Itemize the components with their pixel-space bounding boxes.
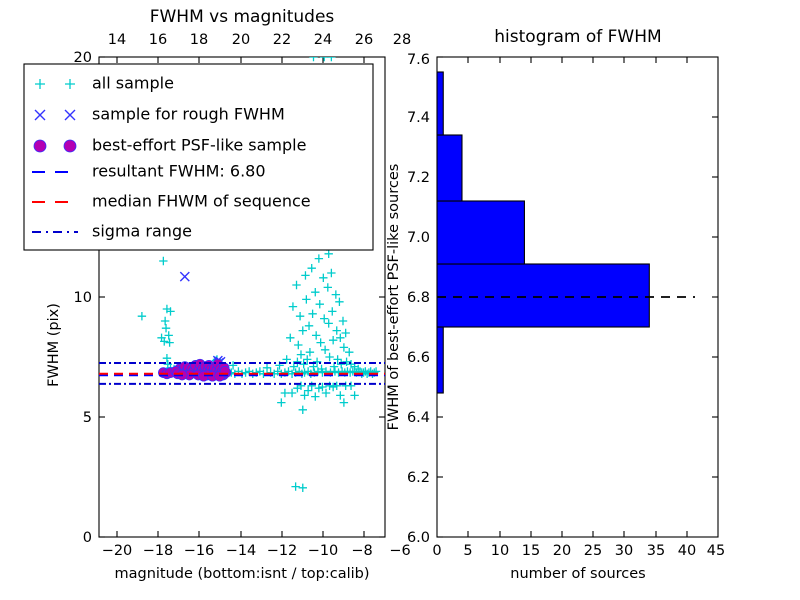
- legend-box: all samplesample for rough FWHMbest-effo…: [24, 64, 373, 250]
- y-tick-label: 7.0: [407, 230, 430, 246]
- left-x-ticklabels: −20 −18 −16 −14 −12 −10 −8 −6: [102, 543, 411, 559]
- y-tick-label: 0: [83, 530, 92, 546]
- y-tick-label: 5: [83, 410, 92, 426]
- y-tick-label: 6.2: [407, 470, 430, 486]
- y-tick-label: 6.6: [407, 350, 430, 366]
- left-xaxis-label: magnitude (bottom:isnt / top:calib): [114, 566, 369, 582]
- x-tick-label: 45: [707, 543, 725, 559]
- x-tick-label: −14: [226, 543, 257, 559]
- y-tick-label: 7.2: [407, 170, 430, 186]
- top-tick-label: 28: [393, 32, 411, 48]
- legend-frame: [24, 64, 373, 250]
- legend-item-label: sigma range: [92, 222, 192, 241]
- figure-canvas: FWHM vs magnitudes 14 16 18 20 22 24 26 …: [0, 0, 800, 600]
- legend-item-label: all sample: [92, 74, 174, 93]
- x-tick-label: −10: [308, 543, 339, 559]
- matplotlib-figure: FWHM vs magnitudes 14 16 18 20 22 24 26 …: [0, 0, 800, 600]
- top-tick-label: 24: [314, 32, 332, 48]
- x-tick-label: 0: [432, 543, 441, 559]
- y-tick-label: 6.0: [407, 530, 430, 546]
- right-panel-title: histogram of FWHM: [494, 27, 661, 47]
- x-tick-label: 30: [615, 543, 633, 559]
- y-tick-label: 6.8: [407, 290, 430, 306]
- x-tick-label: −12: [267, 543, 298, 559]
- x-tick-label: 35: [647, 543, 665, 559]
- x-tick-label: 15: [522, 543, 540, 559]
- left-yaxis-label: FWHM (pix): [46, 303, 62, 387]
- right-xaxis-label: number of sources: [510, 566, 646, 582]
- x-tick-label: −20: [102, 543, 133, 559]
- right-yaxis-label: FWHM of best-effort PSF-like sources: [386, 164, 402, 431]
- legend-item-label: resultant FWHM: 6.80: [92, 162, 266, 181]
- top-tick-label: 16: [149, 32, 167, 48]
- x-tick-label: −16: [184, 543, 215, 559]
- x-tick-label: −8: [351, 543, 372, 559]
- top-tick-label: 22: [273, 32, 291, 48]
- y-tick-label: 10: [74, 290, 92, 306]
- y-tick-label: 7.4: [407, 110, 430, 126]
- top-tick-label: 20: [232, 32, 250, 48]
- x-tick-label: 5: [463, 543, 472, 559]
- x-tick-label: 10: [491, 543, 509, 559]
- top-tick-label: 26: [355, 32, 373, 48]
- top-tick-label: 14: [108, 32, 126, 48]
- x-tick-label: −18: [143, 543, 174, 559]
- top-tick-label: 18: [190, 32, 208, 48]
- legend-item-label: median FHWM of sequence: [92, 192, 311, 211]
- x-tick-label: 25: [584, 543, 602, 559]
- y-tick-label: 7.6: [407, 52, 430, 68]
- legend-item-label: best-effort PSF-like sample: [92, 136, 306, 155]
- left-panel-title: FWHM vs magnitudes: [150, 7, 335, 27]
- y-tick-label: 6.4: [407, 410, 430, 426]
- legend-item-label: sample for rough FWHM: [92, 105, 285, 124]
- x-tick-label: 40: [678, 543, 696, 559]
- x-tick-label: 20: [553, 543, 571, 559]
